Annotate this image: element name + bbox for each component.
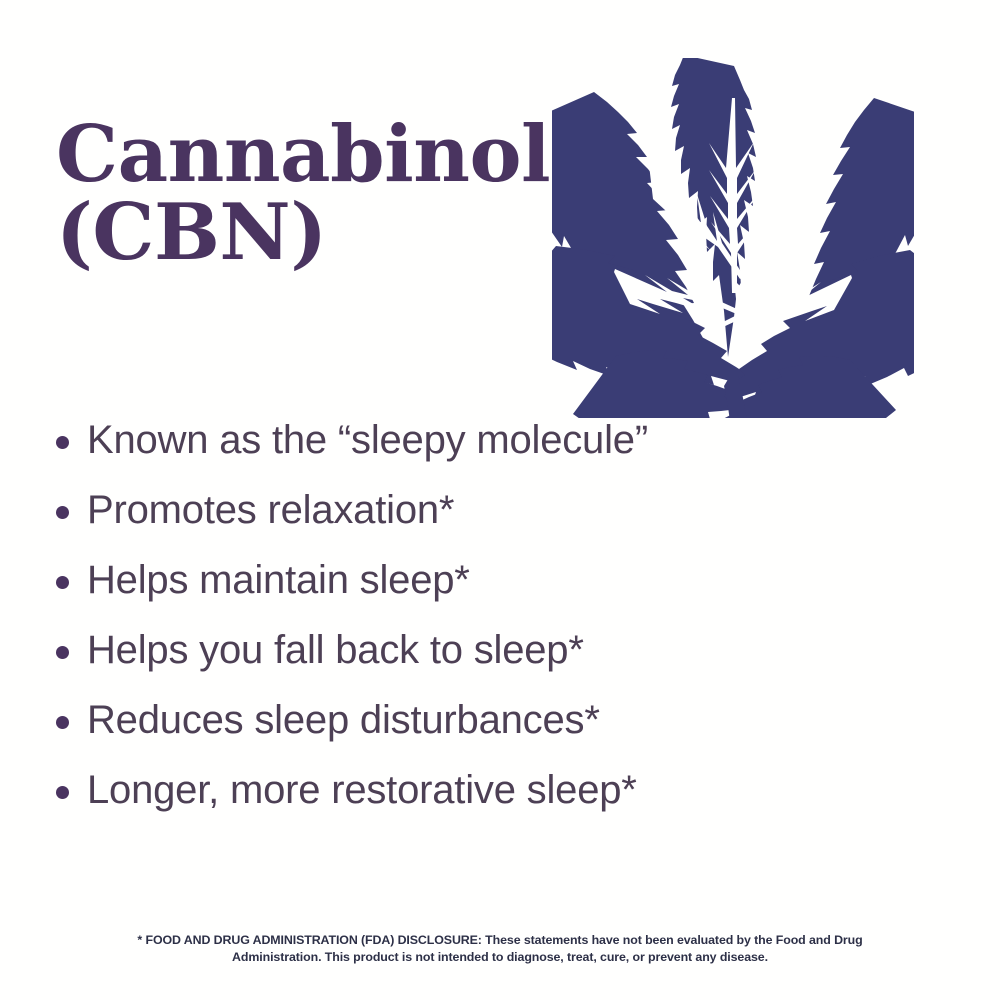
- list-item: Longer, more restorative sleep*: [56, 764, 936, 834]
- list-item-label: Helps you fall back to sleep*: [87, 624, 584, 676]
- list-item-label: Known as the “sleepy molecule”: [87, 414, 648, 466]
- bullet-dot-icon: [56, 786, 69, 799]
- bullet-dot-icon: [56, 436, 69, 449]
- title-line-primary: Cannabinol: [56, 118, 576, 192]
- list-item: Helps maintain sleep*: [56, 554, 936, 624]
- infographic-card: Cannabinol (CBN): [0, 0, 1000, 1000]
- fda-disclosure: * FOOD AND DRUG ADMINISTRATION (FDA) DIS…: [50, 932, 950, 966]
- fda-disclosure-line-1: * FOOD AND DRUG ADMINISTRATION (FDA) DIS…: [50, 932, 950, 949]
- cannabis-leaf-icon: [552, 58, 914, 418]
- bullet-dot-icon: [56, 576, 69, 589]
- bullet-dot-icon: [56, 646, 69, 659]
- list-item: Promotes relaxation*: [56, 484, 936, 554]
- fda-disclosure-line-2: Administration. This product is not inte…: [50, 949, 950, 966]
- benefits-list: Known as the “sleepy molecule” Promotes …: [56, 414, 936, 834]
- list-item: Known as the “sleepy molecule”: [56, 414, 936, 484]
- list-item-label: Reduces sleep disturbances*: [87, 694, 600, 746]
- list-item-label: Promotes relaxation*: [87, 484, 454, 536]
- list-item: Helps you fall back to sleep*: [56, 624, 936, 694]
- page-title: Cannabinol (CBN): [56, 118, 576, 270]
- list-item-label: Helps maintain sleep*: [87, 554, 470, 606]
- bullet-dot-icon: [56, 506, 69, 519]
- bullet-dot-icon: [56, 716, 69, 729]
- list-item: Reduces sleep disturbances*: [56, 694, 936, 764]
- list-item-label: Longer, more restorative sleep*: [87, 764, 637, 816]
- title-line-secondary: (CBN): [56, 196, 576, 270]
